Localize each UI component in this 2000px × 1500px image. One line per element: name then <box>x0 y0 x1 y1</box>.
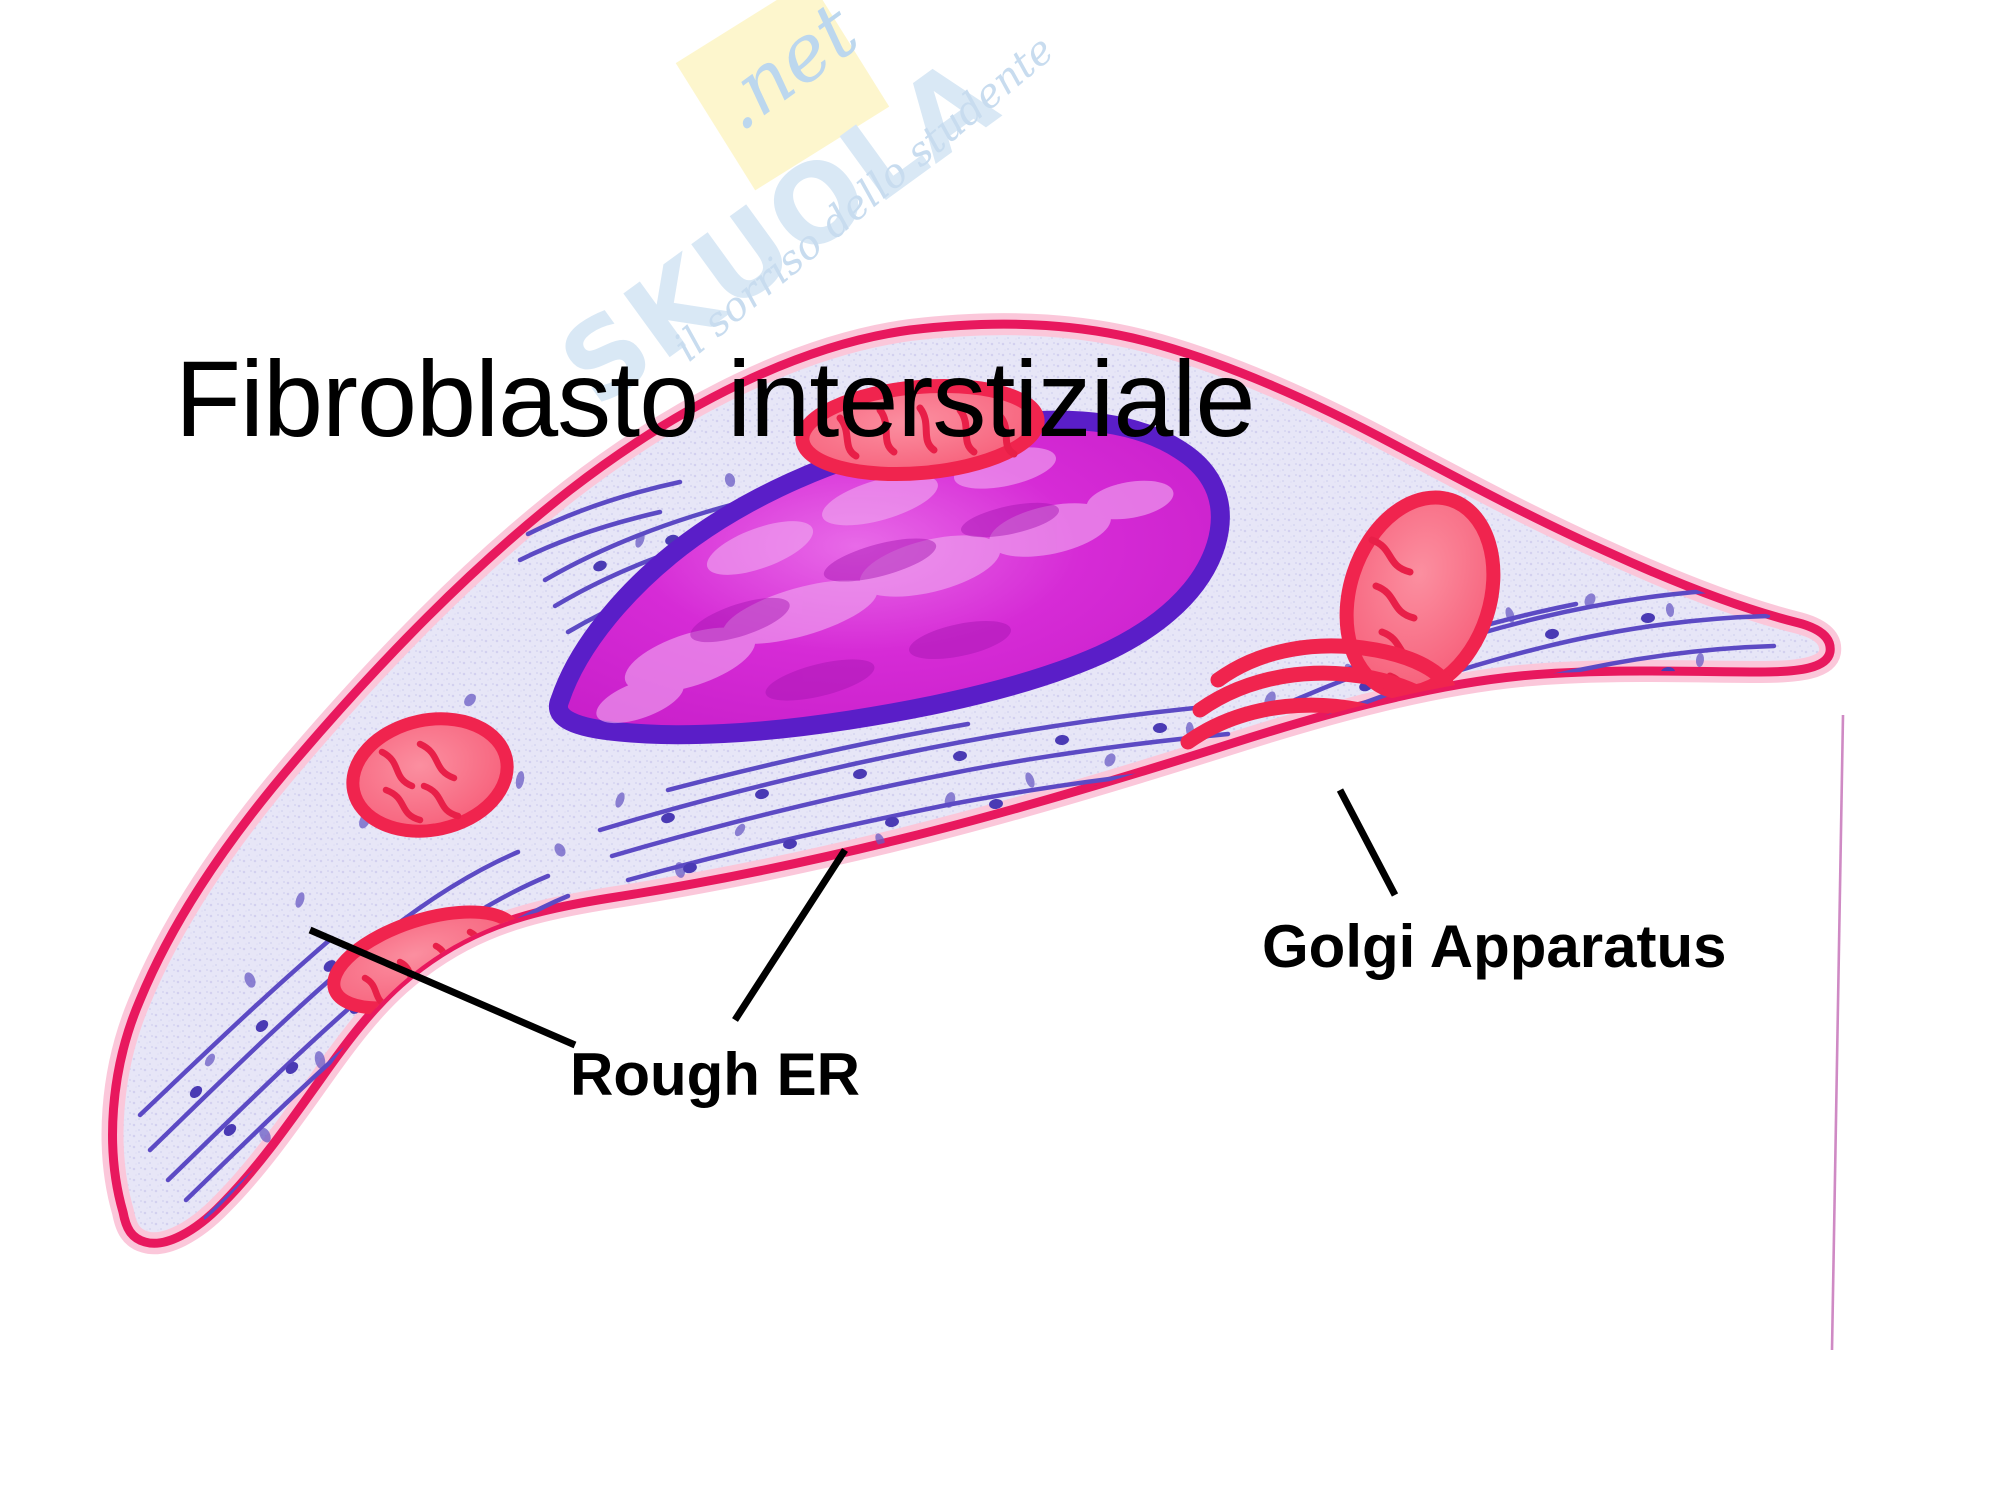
slide-canvas: SKUOLA .net il sorriso dello studente <box>0 0 2000 1500</box>
label-golgi-apparatus: Golgi Apparatus <box>1262 912 1726 981</box>
label-rough-er: Rough ER <box>570 1040 860 1109</box>
golgi-vesicles <box>1206 776 1348 868</box>
fibroblast-cell-diagram <box>0 0 2000 1500</box>
thin-guide-line <box>1832 715 1843 1350</box>
leader-line-golgi <box>1340 790 1395 895</box>
page-title: Fibroblasto interstiziale <box>175 345 1254 453</box>
